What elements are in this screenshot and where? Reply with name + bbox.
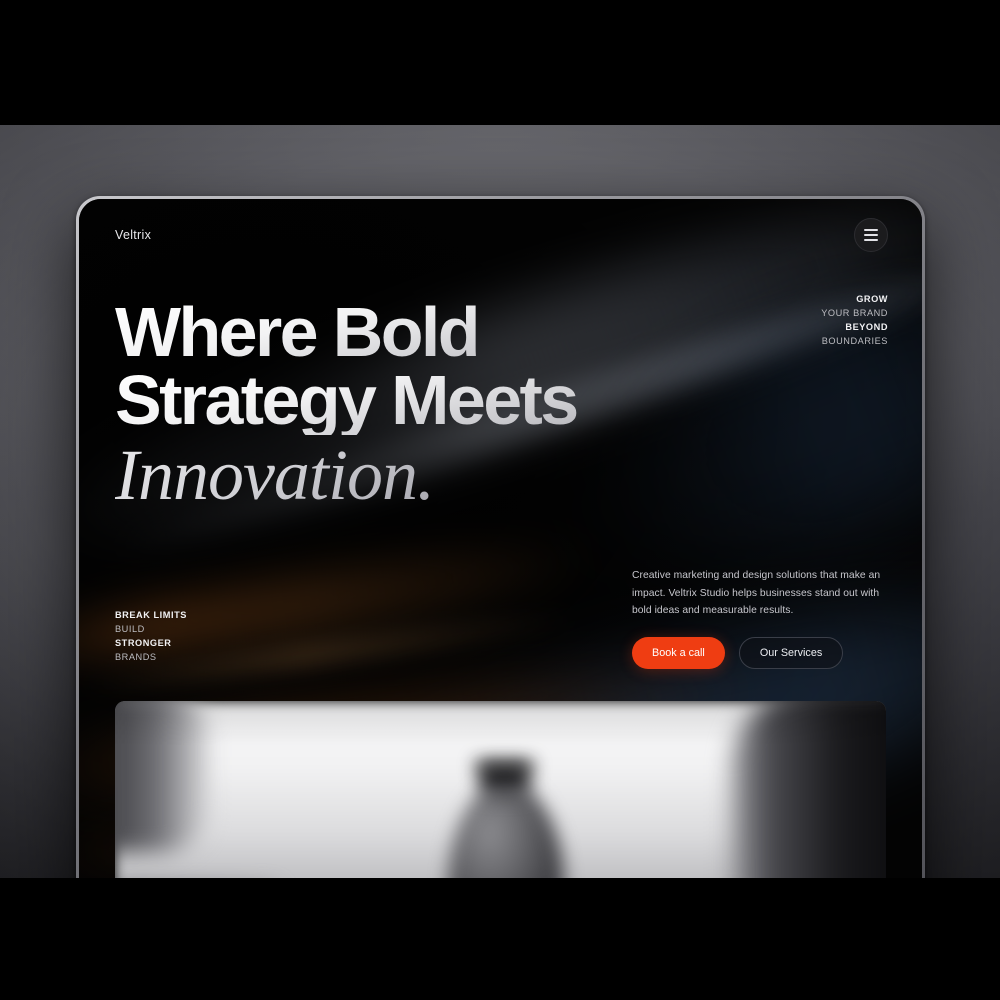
headline-line-3: Innovation. — [115, 441, 577, 511]
letterbox-bar-top — [0, 0, 1000, 125]
menu-line-3 — [864, 239, 878, 241]
kicker-bl-line-4: BRANDS — [115, 650, 187, 664]
device-frame: Veltrix Where Bold Strategy Meets Innova… — [76, 196, 925, 956]
kicker-tr-line-3: BEYOND — [821, 320, 888, 334]
hero-headline: Where Bold Strategy Meets Innovation. — [115, 299, 577, 511]
brand-logo[interactable]: Veltrix — [115, 228, 151, 242]
device-screen: Veltrix Where Bold Strategy Meets Innova… — [79, 199, 922, 953]
headline-line-1: Where Bold — [115, 299, 577, 367]
kicker-bl-line-2: BUILD — [115, 622, 187, 636]
kicker-bl-line-1: BREAK LIMITS — [115, 608, 187, 622]
kicker-bl-line-3: STRONGER — [115, 636, 187, 650]
menu-line-1 — [864, 229, 878, 231]
kicker-tr-line-2: YOUR BRAND — [821, 306, 888, 320]
screenshot-stage: Veltrix Where Bold Strategy Meets Innova… — [0, 0, 1000, 1000]
headline-line-2: Strategy Meets — [115, 367, 577, 435]
hero-description: Creative marketing and design solutions … — [632, 567, 890, 620]
kicker-break-limits: BREAK LIMITS BUILD STRONGER BRANDS — [115, 608, 187, 664]
kicker-tr-line-4: BOUNDARIES — [821, 334, 888, 348]
kicker-grow-your-brand: GROW YOUR BRAND BEYOND BOUNDARIES — [821, 292, 888, 348]
top-navigation-bar: Veltrix — [79, 199, 922, 271]
letterbox-bar-bottom — [0, 878, 1000, 1000]
our-services-button[interactable]: Our Services — [739, 637, 843, 669]
book-a-call-button[interactable]: Book a call — [632, 637, 725, 669]
hamburger-menu-icon[interactable] — [854, 218, 888, 252]
menu-line-2 — [864, 234, 878, 236]
cta-button-row: Book a call Our Services — [632, 637, 843, 669]
kicker-tr-line-1: GROW — [821, 292, 888, 306]
